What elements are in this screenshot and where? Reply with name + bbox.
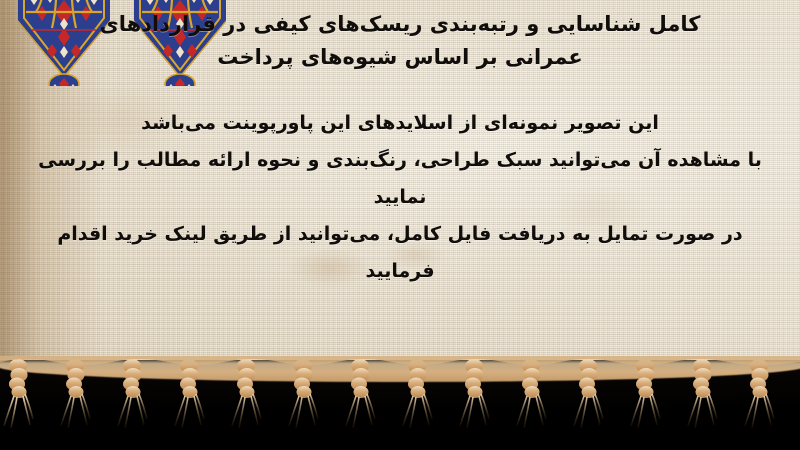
body-line-2: با مشاهده آن می‌توانید سبک طراحی، رنگ‌بن… <box>26 142 774 216</box>
title-line-1: کامل شناسایی و رتبه‌بندی ریسک‌های کیفی د… <box>99 12 700 36</box>
page-title: کامل شناسایی و رتبه‌بندی ریسک‌های کیفی د… <box>0 8 800 74</box>
body-line-3: در صورت تمایل به دریافت فایل کامل، می‌تو… <box>26 216 774 290</box>
carpet-fringe-tassels <box>0 356 800 450</box>
presentation-slide: کامل شناسایی و رتبه‌بندی ریسک‌های کیفی د… <box>0 0 800 450</box>
slide-body: این تصویر نمونه‌ای از اسلایدهای این پاور… <box>0 105 800 290</box>
slide-text-container: کامل شناسایی و رتبه‌بندی ریسک‌های کیفی د… <box>0 0 800 372</box>
body-line-1: این تصویر نمونه‌ای از اسلایدهای این پاور… <box>26 105 774 142</box>
title-line-2: عمرانی بر اساس شیوه‌های پرداخت <box>38 41 762 74</box>
